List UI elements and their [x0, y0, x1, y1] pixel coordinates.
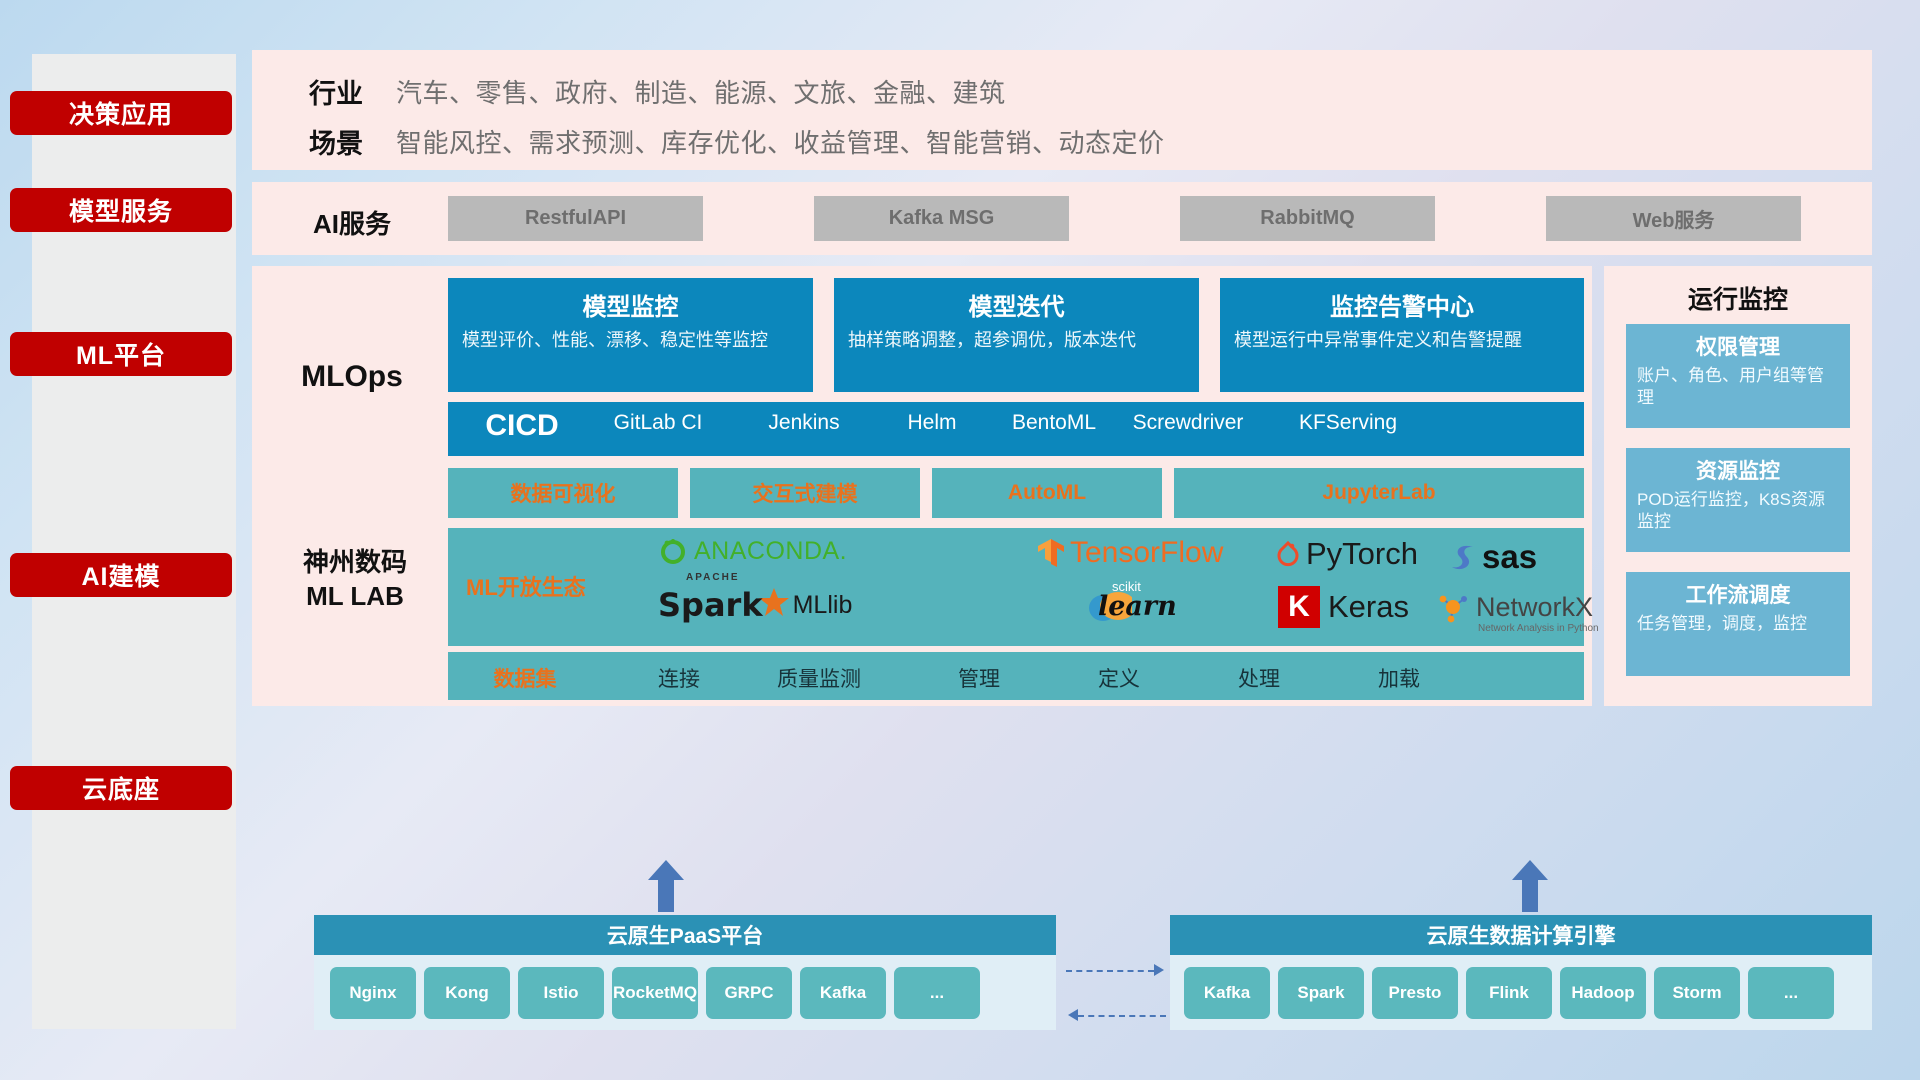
- rail-item-cloud-base[interactable]: 云底座: [10, 766, 232, 810]
- rail-label: AI建模: [81, 557, 160, 593]
- dashed-connector-right: [1066, 970, 1154, 972]
- engine-chip-flink[interactable]: Flink: [1466, 967, 1552, 1019]
- runtime-monitor-title: 运行监控: [1604, 280, 1872, 316]
- card-title: 监控告警中心: [1234, 287, 1570, 322]
- engine-title: 云原生数据计算引擎: [1170, 915, 1872, 955]
- mlops-band: MLOps 模型监控 模型评价、性能、漂移、稳定性等监控 模型迭代 抽样策略调整…: [252, 266, 1592, 486]
- tool-chip-interactive-modeling[interactable]: 交互式建模: [690, 468, 920, 518]
- engine-chip-storm[interactable]: Storm: [1654, 967, 1740, 1019]
- tensorflow-wordmark: TensorFlow: [1070, 536, 1223, 570]
- pytorch-wordmark: PyTorch: [1306, 536, 1418, 572]
- paas-chip-kong[interactable]: Kong: [424, 967, 510, 1019]
- ai-service-label: AI服务: [272, 204, 432, 241]
- service-box-restfulapi[interactable]: RestfulAPI: [448, 196, 703, 241]
- scenario-label: 场景: [276, 122, 396, 161]
- service-box-web-service[interactable]: Web服务: [1546, 196, 1801, 241]
- card-title: 模型监控: [462, 287, 799, 322]
- ai-service-band: AI服务 RestfulAPI Kafka MSG RabbitMQ Web服务: [252, 182, 1872, 255]
- cicd-item-gitlab-ci[interactable]: GitLab CI: [598, 410, 718, 436]
- paas-title: 云原生PaaS平台: [314, 915, 1056, 955]
- paas-chip-grpc[interactable]: GRPC: [706, 967, 792, 1019]
- card-title: 权限管理: [1637, 331, 1839, 361]
- engine-chip-presto[interactable]: Presto: [1372, 967, 1458, 1019]
- eco-title: ML开放生态: [466, 570, 586, 602]
- mlops-card-alert-center[interactable]: 监控告警中心 模型运行中异常事件定义和告警提醒: [1220, 278, 1584, 392]
- rail-label: 模型服务: [69, 192, 173, 228]
- scikit-learn-logo: scikit learn: [1088, 586, 1177, 626]
- cicd-item-bentoml[interactable]: BentoML: [994, 410, 1114, 436]
- dashed-connector-left: [1078, 1015, 1166, 1017]
- cicd-head: CICD: [462, 407, 582, 445]
- paas-chip-nginx[interactable]: Nginx: [330, 967, 416, 1019]
- monitor-card-workflow[interactable]: 工作流调度 任务管理，调度，监控: [1626, 572, 1850, 676]
- application-layer-band: 行业 汽车、零售、政府、制造、能源、文旅、金融、建筑 场景 智能风控、需求预测、…: [252, 50, 1872, 170]
- tool-chip-jupyterlab[interactable]: JupyterLab: [1174, 468, 1584, 518]
- scenario-row: 场景 智能风控、需求预测、库存优化、收益管理、智能营销、动态定价: [276, 122, 1165, 161]
- industry-label: 行业: [276, 72, 396, 111]
- engine-chip-more[interactable]: ...: [1748, 967, 1834, 1019]
- card-desc: 抽样策略调整，超参调优，版本迭代: [848, 329, 1185, 352]
- card-title: 模型迭代: [848, 287, 1185, 322]
- rail-label: 云底座: [82, 770, 160, 806]
- dashed-arrow-left: [1068, 1009, 1078, 1021]
- engine-chip-spark[interactable]: Spark: [1278, 967, 1364, 1019]
- rail-item-decision-app[interactable]: 决策应用: [10, 91, 232, 135]
- arrow-up-paas: [648, 860, 684, 912]
- keras-mark: K: [1278, 586, 1320, 628]
- dataset-item-manage[interactable]: 管理: [914, 663, 1044, 693]
- scenario-value: 智能风控、需求预测、库存优化、收益管理、智能营销、动态定价: [396, 123, 1165, 160]
- dataset-item-define[interactable]: 定义: [1054, 663, 1184, 693]
- card-title: 资源监控: [1637, 455, 1839, 485]
- spark-wordmark: Spark: [658, 586, 763, 624]
- dataset-item-connect[interactable]: 连接: [614, 663, 744, 693]
- mlops-card-model-monitoring[interactable]: 模型监控 模型评价、性能、漂移、稳定性等监控: [448, 278, 813, 392]
- dataset-item-quality[interactable]: 质量监测: [754, 663, 884, 693]
- rail-label: ML平台: [76, 336, 166, 372]
- card-title: 工作流调度: [1637, 579, 1839, 609]
- networkx-tagline: Network Analysis in Python: [1478, 623, 1599, 634]
- paas-chip-rocketmq[interactable]: RocketMQ: [612, 967, 698, 1019]
- engine-chip-hadoop[interactable]: Hadoop: [1560, 967, 1646, 1019]
- paas-chip-kafka[interactable]: Kafka: [800, 967, 886, 1019]
- rail-item-ai-modeling[interactable]: AI建模: [10, 553, 232, 597]
- card-desc: 模型运行中异常事件定义和告警提醒: [1234, 329, 1570, 352]
- ml-open-ecosystem-panel: ML开放生态 ANACONDA. APACHE Spark MLlib Tens…: [448, 528, 1584, 646]
- arrow-up-engine: [1512, 860, 1548, 912]
- runtime-monitor-band: 运行监控 权限管理 账户、角色、用户组等管理 资源监控 POD运行监控，K8S资…: [1604, 266, 1872, 706]
- dataset-item-process[interactable]: 处理: [1194, 663, 1324, 693]
- cicd-strip: CICD GitLab CI Jenkins Helm BentoML Scre…: [448, 402, 1584, 460]
- mlops-card-model-iteration[interactable]: 模型迭代 抽样策略调整，超参调优，版本迭代: [834, 278, 1199, 392]
- networkx-logo: NetworkX Network Analysis in Python: [1434, 590, 1593, 624]
- service-box-rabbitmq[interactable]: RabbitMQ: [1180, 196, 1435, 241]
- ml-lab-band: 神州数码 ML LAB 数据可视化 交互式建模 AutoML JupyterLa…: [252, 456, 1592, 706]
- anaconda-wordmark: ANACONDA.: [694, 537, 847, 566]
- tool-chip-data-visualization[interactable]: 数据可视化: [448, 468, 678, 518]
- cloud-engine-panel: 云原生数据计算引擎 Kafka Spark Presto Flink Hadoo…: [1170, 915, 1872, 1030]
- paas-chip-more[interactable]: ...: [894, 967, 980, 1019]
- monitor-card-permission[interactable]: 权限管理 账户、角色、用户组等管理: [1626, 324, 1850, 428]
- card-desc: POD运行监控，K8S资源监控: [1637, 489, 1839, 534]
- ml-lab-label-line2: ML LAB: [260, 580, 450, 614]
- scikit-wordmark: scikit: [1112, 579, 1141, 594]
- sas-logo: sas: [1448, 538, 1537, 576]
- tool-chip-automl[interactable]: AutoML: [932, 468, 1162, 518]
- mllib-wordmark: MLlib: [793, 591, 853, 620]
- cicd-item-screwdriver[interactable]: Screwdriver: [1128, 410, 1248, 436]
- rail-item-ml-platform[interactable]: ML平台: [10, 332, 232, 376]
- dashed-arrow-right: [1154, 964, 1164, 976]
- cicd-item-helm[interactable]: Helm: [872, 410, 992, 436]
- cloud-paas-panel: 云原生PaaS平台 Nginx Kong Istio RocketMQ GRPC…: [314, 915, 1056, 1030]
- networkx-wordmark: NetworkX: [1476, 592, 1593, 622]
- architecture-diagram: 决策应用 模型服务 ML平台 AI建模 云底座 行业 汽车、零售、政府、制造、能…: [0, 0, 1920, 1080]
- cicd-item-jenkins[interactable]: Jenkins: [744, 410, 864, 436]
- spark-mllib-logo: APACHE Spark MLlib: [658, 586, 852, 624]
- industry-value: 汽车、零售、政府、制造、能源、文旅、金融、建筑: [396, 73, 1006, 110]
- learn-wordmark: learn: [1098, 591, 1177, 622]
- service-box-kafka-msg[interactable]: Kafka MSG: [814, 196, 1069, 241]
- paas-chip-istio[interactable]: Istio: [518, 967, 604, 1019]
- anaconda-logo: ANACONDA.: [658, 536, 847, 566]
- dataset-strip: 数据集 连接 质量监测 管理 定义 处理 加载: [448, 652, 1584, 700]
- engine-chip-kafka[interactable]: Kafka: [1184, 967, 1270, 1019]
- pytorch-logo: PyTorch: [1274, 536, 1418, 572]
- tensorflow-logo: TensorFlow: [1036, 536, 1223, 570]
- dataset-head: 数据集: [460, 663, 590, 693]
- card-desc: 任务管理，调度，监控: [1637, 613, 1839, 635]
- card-desc: 模型评价、性能、漂移、稳定性等监控: [462, 329, 799, 352]
- apache-wordmark: APACHE: [686, 572, 739, 583]
- keras-wordmark: Keras: [1328, 589, 1409, 625]
- dataset-item-load[interactable]: 加载: [1334, 663, 1464, 693]
- ml-lab-label-line1: 神州数码: [260, 546, 450, 580]
- industry-row: 行业 汽车、零售、政府、制造、能源、文旅、金融、建筑: [276, 72, 1006, 111]
- monitor-card-resource[interactable]: 资源监控 POD运行监控，K8S资源监控: [1626, 448, 1850, 552]
- card-desc: 账户、角色、用户组等管理: [1637, 365, 1839, 410]
- keras-logo: K Keras: [1278, 586, 1409, 628]
- sas-wordmark: sas: [1482, 538, 1537, 576]
- ml-lab-label: 神州数码 ML LAB: [260, 546, 450, 614]
- mlops-label: MLOps: [264, 360, 440, 394]
- cicd-item-kfserving[interactable]: KFServing: [1288, 410, 1408, 436]
- rail-item-model-service[interactable]: 模型服务: [10, 188, 232, 232]
- rail-label: 决策应用: [69, 95, 173, 131]
